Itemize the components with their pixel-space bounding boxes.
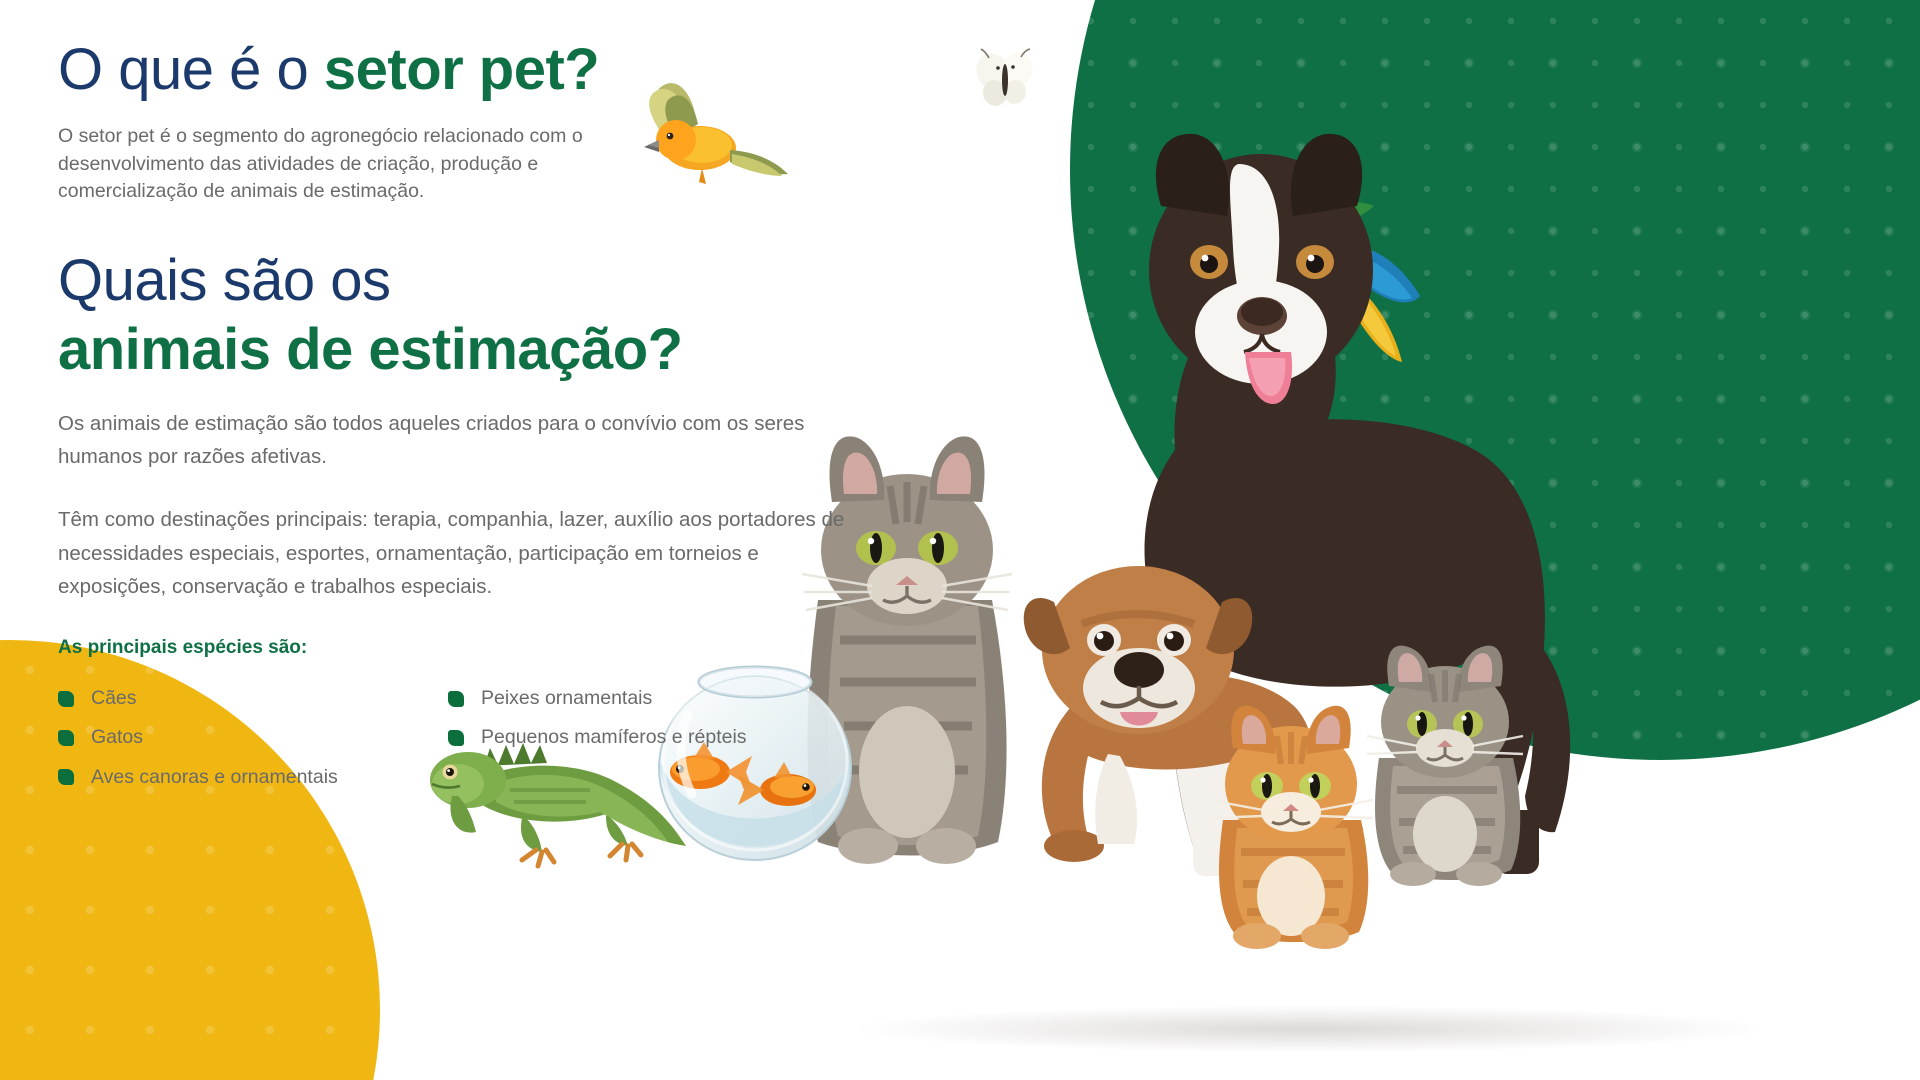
page-title-animais-estimacao: Quais são os animais de estimação? bbox=[58, 250, 1058, 381]
green-dot-pattern bbox=[1070, 0, 1920, 760]
species-column-right: Peixes ornamentais Pequenos mamíferos e … bbox=[448, 687, 747, 766]
title-plain-part: O que é o bbox=[58, 37, 324, 102]
bullet-square-icon bbox=[58, 769, 74, 785]
species-label: Aves canoras e ornamentais bbox=[91, 766, 338, 789]
species-column-left: Cães Gatos Aves canoras e ornamentais bbox=[58, 687, 338, 805]
species-heading: As principais espécies são: bbox=[58, 637, 1058, 659]
ground-shadow bbox=[860, 1006, 1760, 1052]
page-title-setor-pet: O que é o setor pet? bbox=[58, 38, 1058, 103]
list-item: Peixes ornamentais bbox=[448, 687, 747, 710]
species-label: Cães bbox=[91, 687, 137, 710]
species-label: Gatos bbox=[91, 726, 143, 749]
animais-paragraph-1: Os animais de estimação são todos aquele… bbox=[58, 407, 848, 473]
animais-paragraph-2: Têm como destinações principais: terapia… bbox=[58, 503, 848, 603]
slide-root: O que é o setor pet? O setor pet é o seg… bbox=[0, 0, 1920, 1080]
species-label: Peixes ornamentais bbox=[481, 687, 652, 710]
species-label: Pequenos mamíferos e répteis bbox=[481, 726, 747, 749]
setor-pet-paragraph: O setor pet é o segmento do agronegócio … bbox=[58, 123, 658, 206]
slide-content: O que é o setor pet? O setor pet é o seg… bbox=[58, 38, 1058, 687]
bullet-square-icon bbox=[58, 691, 74, 707]
bullet-square-icon bbox=[448, 691, 464, 707]
title-accent-part: setor pet? bbox=[324, 37, 599, 102]
list-item: Cães bbox=[58, 687, 338, 710]
list-item: Gatos bbox=[58, 726, 338, 749]
title2-line1: Quais são os bbox=[58, 248, 391, 313]
bullet-square-icon bbox=[448, 730, 464, 746]
bullet-square-icon bbox=[58, 730, 74, 746]
list-item: Pequenos mamíferos e répteis bbox=[448, 726, 747, 749]
title2-line2: animais de estimação? bbox=[58, 319, 1058, 380]
decor-green-corner bbox=[1070, 0, 1920, 760]
list-item: Aves canoras e ornamentais bbox=[58, 766, 338, 789]
